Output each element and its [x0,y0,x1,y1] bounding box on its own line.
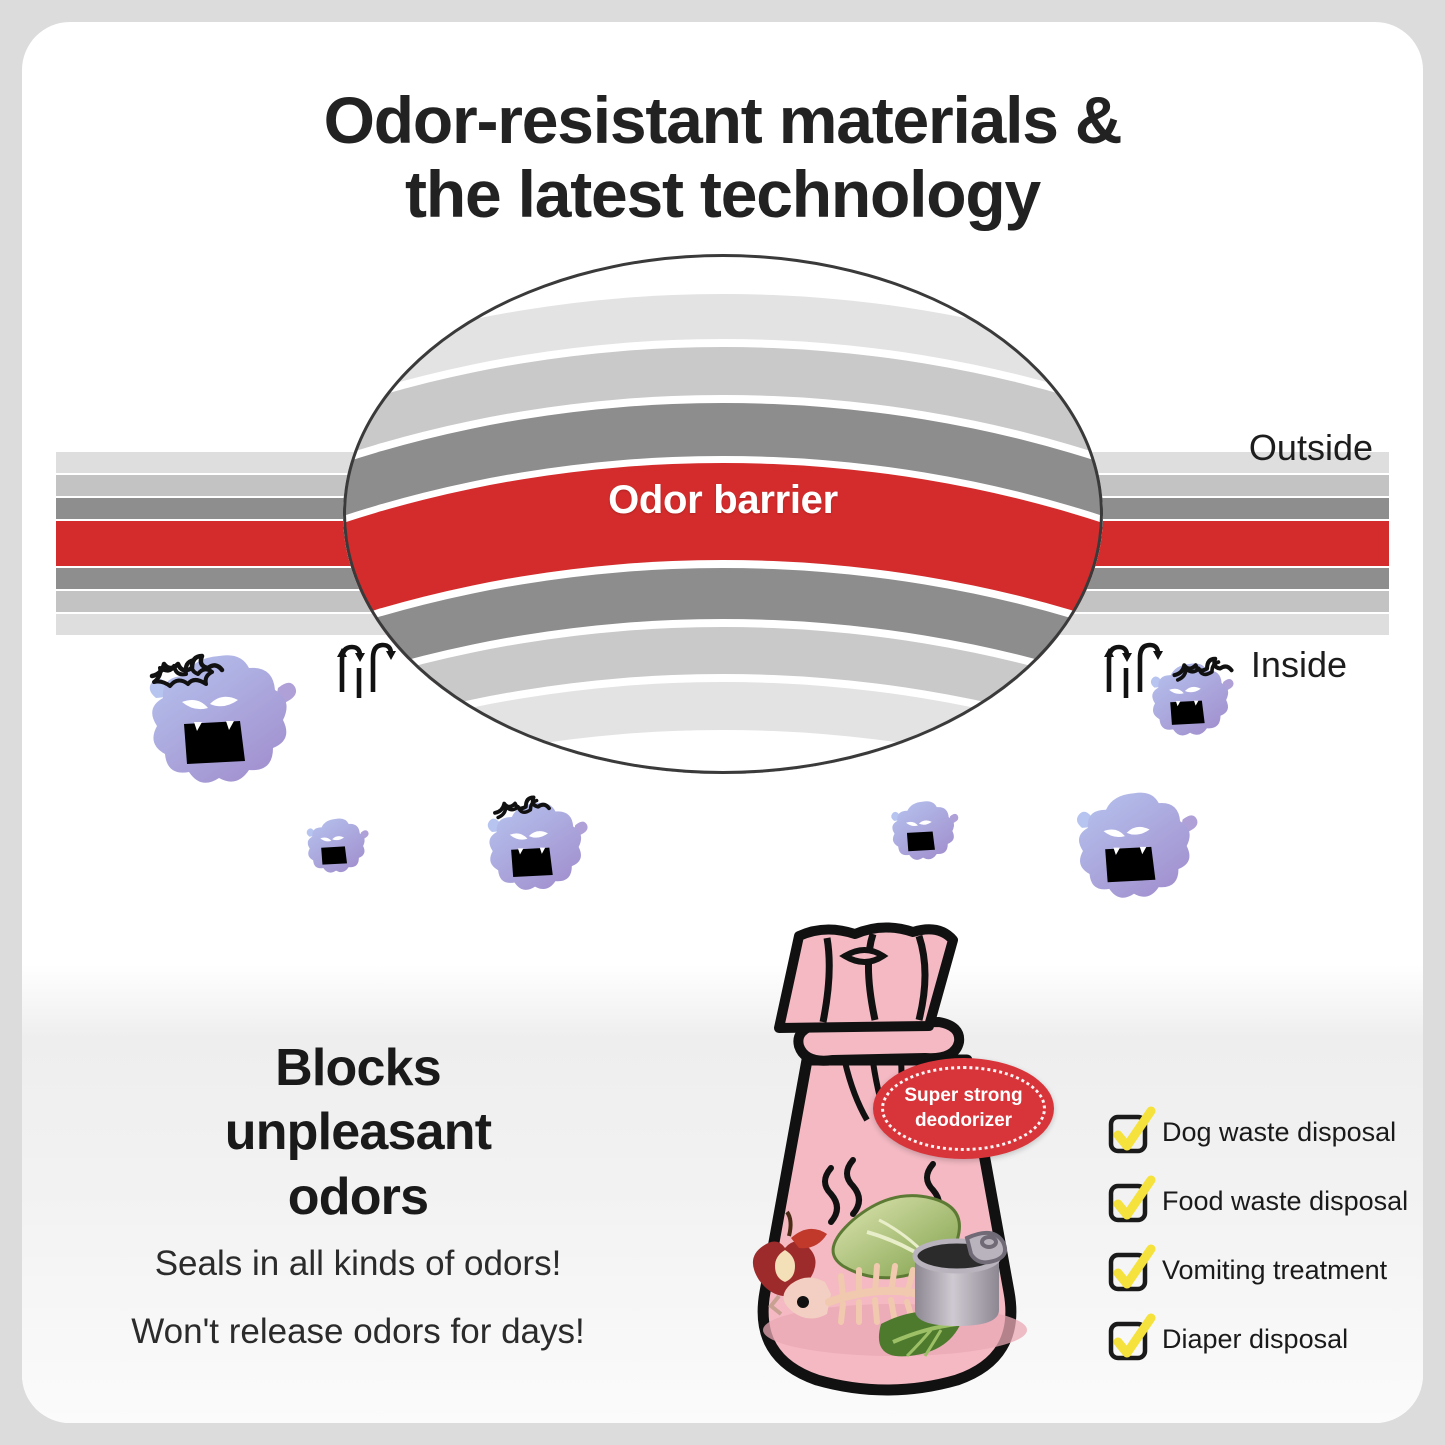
poster-card: Odor-resistant materials & the latest te… [22,22,1423,1423]
checkbox-checked-icon[interactable] [1104,1318,1148,1360]
magnifier-lens: Odor barrier [343,254,1103,774]
odor-monster-right-small [884,794,962,868]
blocks-heading-line-1: Blocks [58,1036,658,1100]
anger-burst-right [1168,642,1238,700]
checkbox-checked-icon[interactable] [1104,1249,1148,1291]
trash-bag-illustration [667,920,1097,1410]
stink-lines-left [327,634,397,706]
anger-burst-center [488,782,556,836]
checklist-item-dog-waste[interactable]: Dog waste disposal [1104,1098,1423,1166]
poster-root: Odor-resistant materials & the latest te… [0,0,1445,1445]
blocks-heading-line-3: odors [58,1165,658,1229]
deodorizer-badge: Super strong deodorizer [873,1058,1054,1159]
checklist-item-food-waste[interactable]: Food waste disposal [1104,1167,1423,1235]
blocks-heading-line-2: unpleasant [58,1100,658,1164]
checklist-label: Vomiting treatment [1162,1255,1387,1286]
checkbox-checked-icon[interactable] [1104,1111,1148,1153]
checklist-item-vomiting[interactable]: Vomiting treatment [1104,1236,1423,1304]
checklist-item-diaper[interactable]: Diaper disposal [1104,1305,1423,1373]
badge-line-1: Super strong [904,1084,1022,1108]
badge-line-2: deodorizer [915,1109,1012,1133]
use-case-checklist: Dog waste disposal Food waste disposal [1104,1098,1423,1374]
inside-label: Inside [1251,644,1347,686]
odor-monster-left-small [300,812,372,880]
blocks-subtext-2: Won't release odors for days! [58,1312,658,1352]
checklist-label: Food waste disposal [1162,1186,1408,1217]
anger-burst-left [144,636,230,706]
odor-barrier-label: Odor barrier [343,478,1103,523]
blocks-subtext-1: Seals in all kinds of odors! [58,1244,658,1284]
lens-content: Odor barrier [343,254,1103,774]
blocks-heading: Blocks unpleasant odors [58,1036,658,1229]
checkbox-checked-icon[interactable] [1104,1180,1148,1222]
outside-label: Outside [1249,427,1373,469]
checklist-label: Diaper disposal [1162,1324,1348,1355]
odor-monster-right-large [1064,780,1204,912]
checklist-label: Dog waste disposal [1162,1117,1396,1148]
